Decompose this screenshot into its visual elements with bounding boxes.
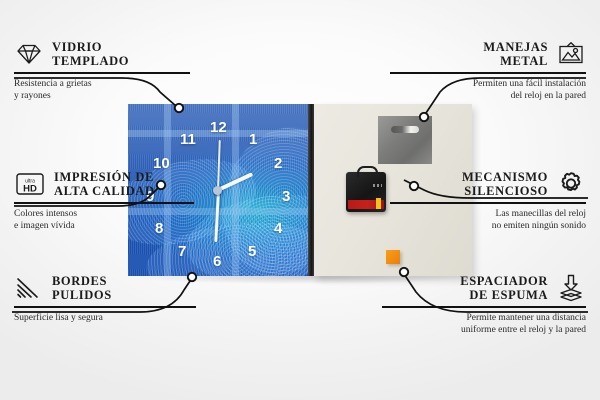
- callout-espaciador-de-espuma: ESPACIADOR DE ESPUMA Permite mantener un…: [382, 274, 586, 337]
- foam-spacer-arrow-icon: [556, 274, 586, 302]
- callout-description: Superficie lisa y segura: [14, 312, 196, 325]
- callout-header: ultra HD IMPRESIÓN DE ALTA CALIDAD: [14, 170, 194, 198]
- callout-header: BORDES PULIDOS: [14, 274, 196, 302]
- callout-description: Colores intensos e imagen vívida: [14, 208, 194, 233]
- clock-mechanism-box: [346, 172, 386, 212]
- svg-text:HD: HD: [23, 184, 37, 195]
- hanger-slot: [391, 126, 419, 133]
- callout-title: VIDRIO TEMPLADO: [52, 40, 129, 68]
- callout-title: ESPACIADOR DE ESPUMA: [460, 274, 548, 302]
- callout-header: MECANISMO SILENCIOSO: [390, 170, 586, 198]
- callout-description: Permiten una fácil instalación del reloj…: [390, 78, 586, 103]
- mechanism-detail: [373, 184, 382, 187]
- callout-header: VIDRIO TEMPLADO: [14, 40, 190, 68]
- callout-header: MANEJAS METAL: [390, 40, 586, 68]
- clock-numeral-6: 6: [213, 254, 221, 269]
- callout-rule: [390, 72, 586, 74]
- callout-header: ESPACIADOR DE ESPUMA: [382, 274, 586, 302]
- clock-numeral-3: 3: [282, 189, 290, 204]
- wall-frame-hook-icon: [556, 41, 586, 67]
- foam-spacer-pad: [386, 250, 400, 264]
- callout-description: Permite mantener una distancia uniforme …: [382, 312, 586, 337]
- callout-rule: [14, 72, 190, 74]
- clock-center-cap: [213, 186, 222, 195]
- clock-numeral-7: 7: [178, 244, 186, 259]
- callout-title: IMPRESIÓN DE ALTA CALIDAD: [54, 170, 155, 198]
- callout-impresion-alta-calidad: ultra HD IMPRESIÓN DE ALTA CALIDAD Color…: [14, 170, 194, 233]
- callout-title: MECANISMO SILENCIOSO: [462, 170, 548, 198]
- callout-vidrio-templado: VIDRIO TEMPLADO Resistencia a grietas y …: [14, 40, 190, 103]
- clock-numeral-1: 1: [249, 132, 257, 147]
- ultra-hd-icon: ultra HD: [14, 171, 46, 197]
- callout-rule: [14, 306, 196, 308]
- callout-title: MANEJAS METAL: [483, 40, 548, 68]
- callout-bordes-pulidos: BORDES PULIDOS Superficie lisa y segura: [14, 274, 196, 324]
- clock-numeral-11: 11: [180, 132, 196, 147]
- callout-description: Resistencia a grietas y rayones: [14, 78, 190, 103]
- clock-numeral-4: 4: [274, 221, 282, 236]
- metal-hanger-plate: [378, 116, 432, 164]
- infographic-canvas: 12 1 2 3 4 5 6 7 8 9 10 11: [0, 0, 600, 400]
- callout-mecanismo-silencioso: MECANISMO SILENCIOSO Las manecillas del …: [390, 170, 586, 233]
- callout-manejas-metal: MANEJAS METAL Permiten una fácil instala…: [390, 40, 586, 103]
- gear-icon: [556, 170, 586, 198]
- callout-title: BORDES PULIDOS: [52, 274, 112, 302]
- mechanism-label: [348, 200, 384, 209]
- callout-rule: [14, 202, 194, 204]
- callout-rule: [382, 306, 586, 308]
- polished-edges-icon: [14, 276, 44, 300]
- clock-numeral-5: 5: [248, 244, 256, 259]
- mechanism-hook: [357, 166, 378, 177]
- clock-numeral-10: 10: [153, 156, 170, 171]
- callout-rule: [390, 202, 586, 204]
- clock-numeral-12: 12: [210, 120, 227, 135]
- mechanism-label-accent: [376, 198, 381, 209]
- clock-numeral-2: 2: [274, 156, 282, 171]
- diamond-icon: [14, 42, 44, 66]
- callout-description: Las manecillas del reloj no emiten ningú…: [390, 208, 586, 233]
